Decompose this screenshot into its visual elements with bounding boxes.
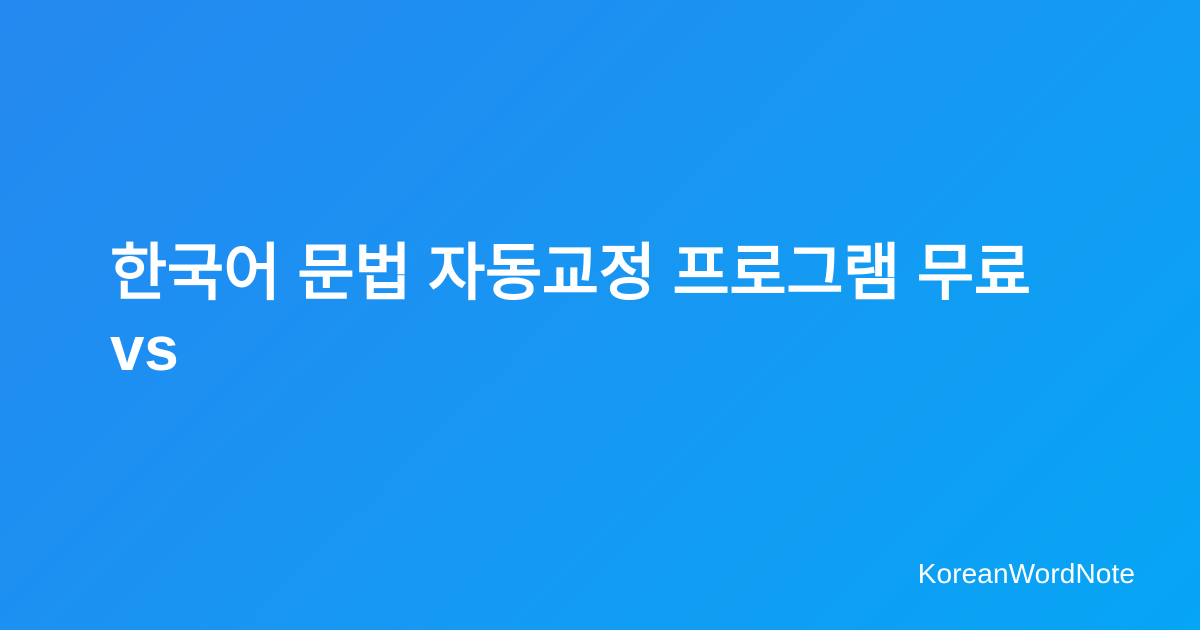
card-content: 한국어 문법 자동교정 프로그램 무료 vs [0,0,1200,630]
page-title: 한국어 문법 자동교정 프로그램 무료 vs [110,236,1090,387]
social-preview-card: 한국어 문법 자동교정 프로그램 무료 vs KoreanWordNote [0,0,1200,630]
brand-watermark: KoreanWordNote [918,560,1135,588]
